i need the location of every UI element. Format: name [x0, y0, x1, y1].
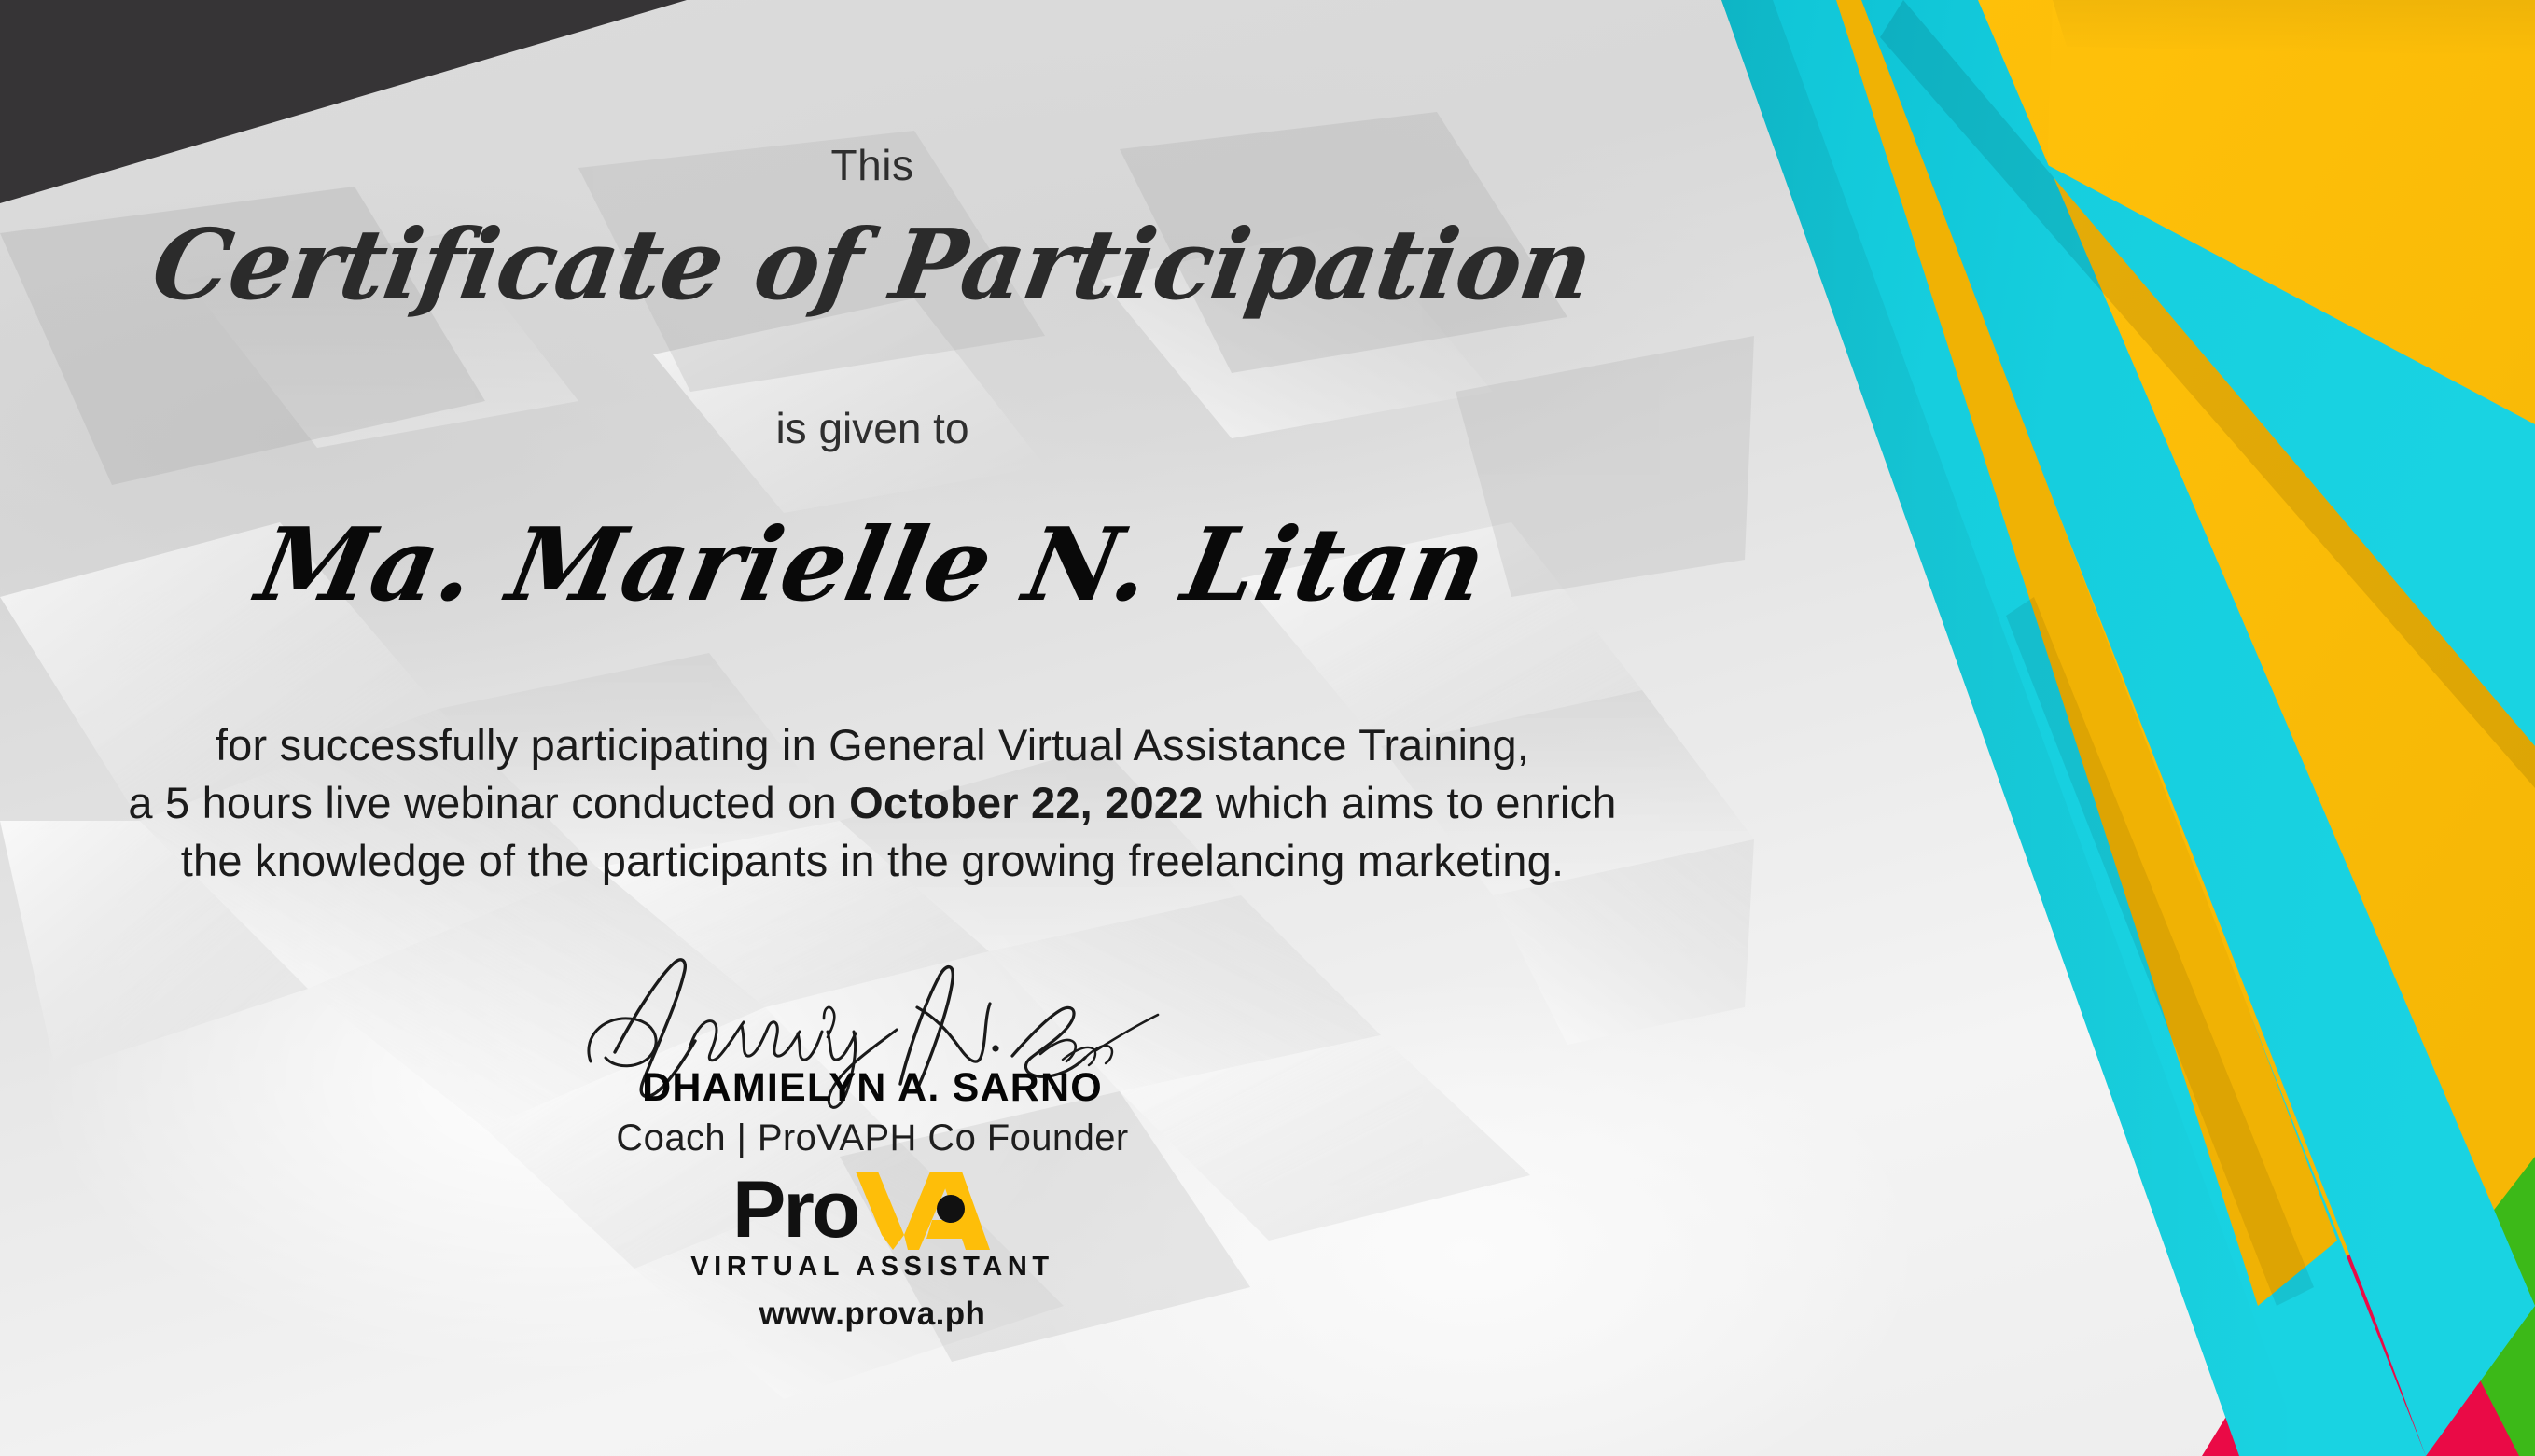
body-line-1: for successfully participating in Genera…	[28, 716, 1717, 774]
prova-logo-tagline: VIRTUAL ASSISTANT	[676, 1252, 1068, 1283]
event-date: October 22, 2022	[849, 778, 1203, 827]
certificate-canvas: This Certificate of Participation is giv…	[0, 0, 2535, 1456]
recipient-name: Ma. Marielle N. Litan	[0, 506, 1756, 624]
signatory-name: DHAMIELYN A. SARNO	[0, 1065, 1745, 1111]
signatory-role: Coach | ProVAPH Co Founder	[0, 1117, 1745, 1159]
body-line-2: a 5 hours live webinar conducted on Octo…	[28, 774, 1717, 832]
body-line-2-before: a 5 hours live webinar conducted on	[128, 778, 849, 827]
body-line-3: the knowledge of the participants in the…	[28, 832, 1717, 890]
certificate-title: Certificate of Participation	[0, 207, 1754, 322]
given-to-label: is given to	[0, 403, 1745, 453]
svg-text:Pro: Pro	[732, 1168, 858, 1254]
certificate-body: for successfully participating in Genera…	[28, 716, 1717, 890]
prova-logo-icon: Pro	[732, 1168, 1012, 1254]
body-line-2-after: which aims to enrich	[1204, 778, 1617, 827]
certificate-content: This Certificate of Participation is giv…	[0, 0, 1745, 1456]
prova-logo: Pro VIRTUAL ASSISTANT www.prova.ph	[676, 1168, 1068, 1333]
intro-label: This	[0, 140, 1745, 190]
prova-website: www.prova.ph	[676, 1296, 1068, 1333]
